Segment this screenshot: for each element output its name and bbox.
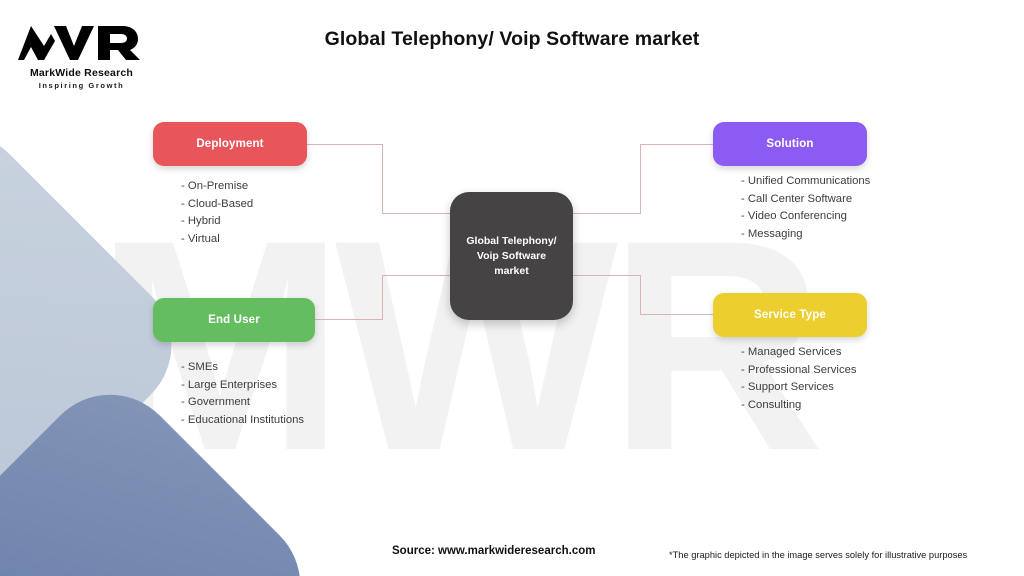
list-item: - SMEs	[181, 359, 304, 377]
branch-label-end-user: End User	[208, 314, 260, 326]
list-item: - Cloud-Based	[181, 196, 253, 214]
brand-tagline: Inspiring Growth	[14, 81, 149, 90]
source-label: Source: www.markwideresearch.com	[392, 545, 595, 557]
connector-service-v	[640, 275, 641, 315]
branch-node-solution[interactable]: Solution	[713, 122, 867, 166]
list-item: - Professional Services	[741, 362, 857, 380]
list-item: - Government	[181, 394, 304, 412]
list-item: - Hybrid	[181, 213, 253, 231]
list-item: - Unified Communications	[741, 173, 870, 191]
branch-node-deployment[interactable]: Deployment	[153, 122, 307, 166]
branch-node-service-type[interactable]: Service Type	[713, 293, 867, 337]
brand-name: MarkWide Research	[14, 67, 149, 79]
hub-node[interactable]: Global Telephony/ Voip Software market	[450, 192, 573, 320]
connector-enduser-h1	[315, 319, 383, 320]
hub-line-2: Voip Software	[477, 249, 546, 264]
connector-enduser-v	[382, 275, 383, 320]
branch-label-solution: Solution	[766, 138, 813, 150]
list-item: - On-Premise	[181, 178, 253, 196]
connector-service-h1	[571, 275, 641, 276]
connector-deployment-h1	[307, 144, 383, 145]
list-item: - Messaging	[741, 226, 870, 244]
list-item: - Managed Services	[741, 344, 857, 362]
page-title: Global Telephony/ Voip Software market	[0, 28, 1024, 51]
list-item: - Support Services	[741, 379, 857, 397]
list-item: - Video Conferencing	[741, 208, 870, 226]
connector-deployment-h2	[382, 213, 452, 214]
branch-node-end-user[interactable]: End User	[153, 298, 315, 342]
branch-label-service-type: Service Type	[754, 309, 826, 321]
list-item: - Call Center Software	[741, 191, 870, 209]
branch-list-service-type: - Managed Services - Professional Servic…	[741, 344, 857, 414]
list-item: - Consulting	[741, 397, 857, 415]
connector-solution-h1	[571, 213, 641, 214]
list-item: - Educational Institutions	[181, 412, 304, 430]
list-item: - Virtual	[181, 231, 253, 249]
branch-list-end-user: - SMEs - Large Enterprises - Government …	[181, 359, 304, 429]
branch-list-deployment: - On-Premise - Cloud-Based - Hybrid - Vi…	[181, 178, 253, 248]
branch-list-solution: - Unified Communications - Call Center S…	[741, 173, 870, 243]
connector-solution-v	[640, 144, 641, 214]
hub-line-3: market	[494, 264, 528, 279]
connector-solution-h2	[640, 144, 715, 145]
list-item: - Large Enterprises	[181, 377, 304, 395]
connector-service-h2	[640, 314, 715, 315]
disclaimer-text: *The graphic depicted in the image serve…	[669, 550, 967, 560]
infographic-canvas: MWR MarkWide Research Inspiring Growth G…	[0, 0, 1024, 576]
hub-line-1: Global Telephony/	[466, 234, 556, 249]
connector-deployment-v	[382, 144, 383, 214]
connector-enduser-h2	[382, 275, 452, 276]
branch-label-deployment: Deployment	[196, 138, 263, 150]
